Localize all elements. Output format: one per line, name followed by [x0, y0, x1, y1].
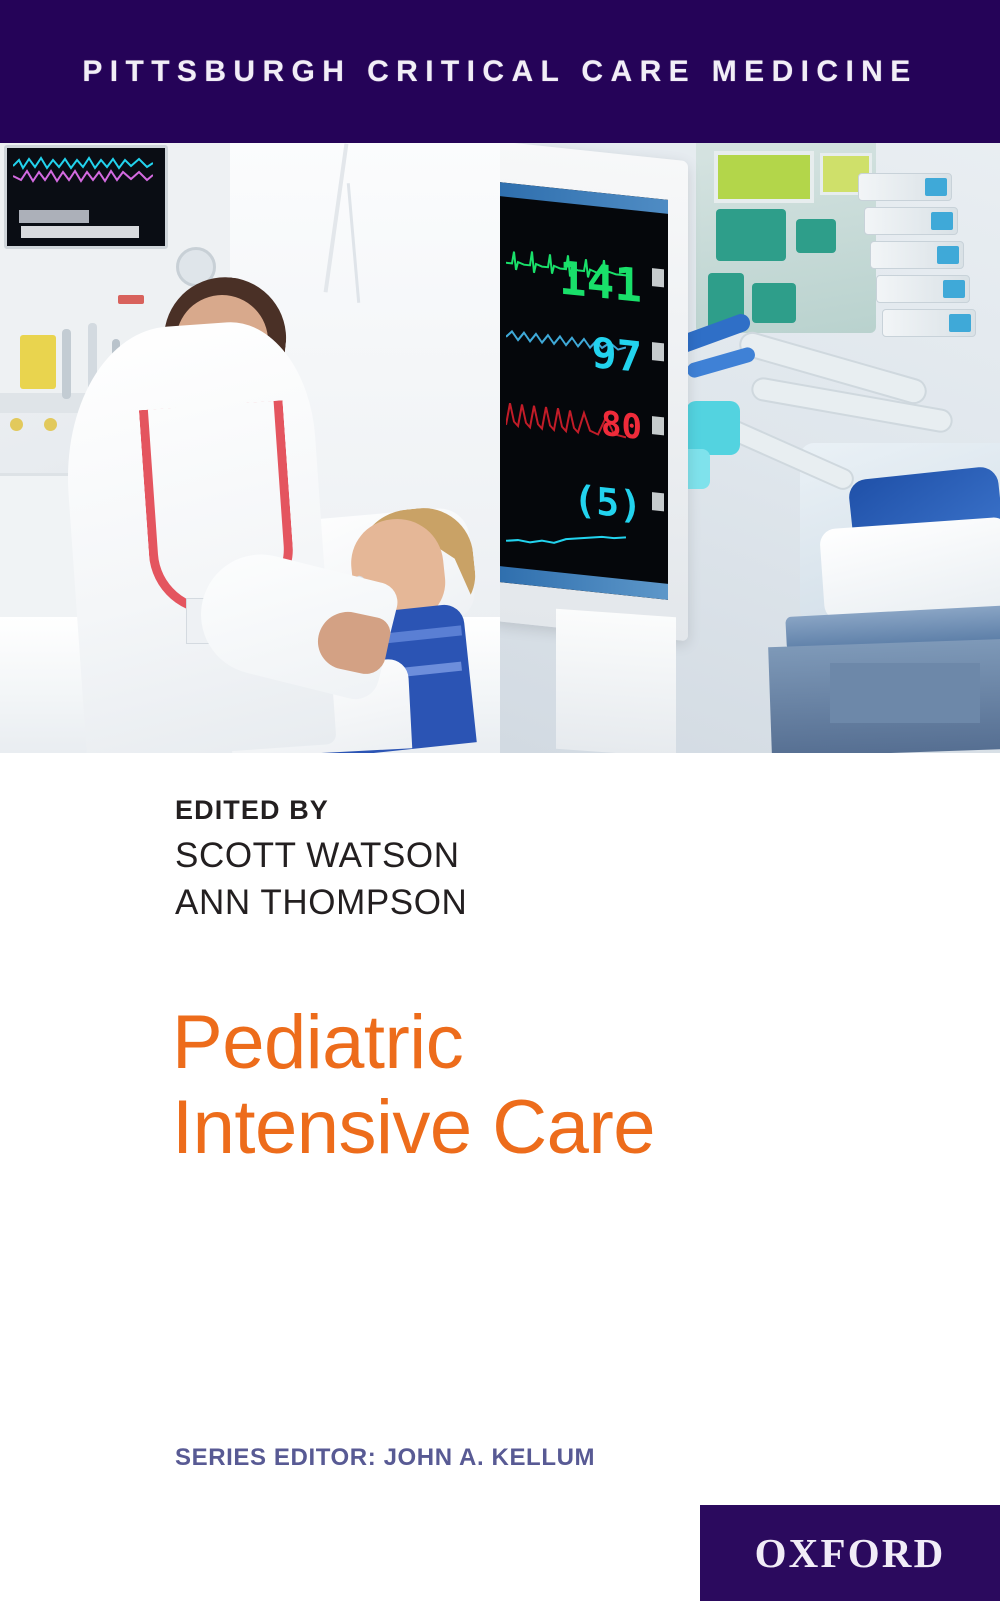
photo-left-scene — [0, 143, 500, 753]
book-title-line-2: Intensive Care — [172, 1085, 655, 1170]
vital-blood-pressure: 80 — [601, 407, 642, 445]
syringe-pump — [876, 275, 970, 303]
bed-control-panel — [830, 663, 980, 723]
syringe-plunger — [949, 314, 971, 332]
red-indicator-strip — [118, 295, 144, 304]
publisher-logo-block: OXFORD — [700, 1505, 1000, 1601]
editor-name-1: SCOTT WATSON — [175, 836, 460, 876]
monitor-label-tag — [652, 492, 664, 511]
monitor-readout-block — [19, 210, 89, 223]
syringe-pump-rack — [858, 173, 992, 353]
syringe-plunger — [925, 178, 947, 196]
bedside-waveform-monitor-icon — [4, 145, 168, 249]
vital-heart-rate: 141 — [559, 254, 642, 309]
ventilator-green-module — [796, 219, 836, 253]
syringe-pump — [882, 309, 976, 337]
syringe-pump — [870, 241, 964, 269]
book-title: Pediatric Intensive Care — [172, 1000, 655, 1170]
patient-white-sheet — [819, 516, 1000, 621]
monitor-label-tag — [652, 416, 664, 435]
syringe-pump — [864, 207, 958, 235]
blue-connector-2 — [685, 346, 756, 380]
monitor-label-tag — [652, 342, 664, 361]
wall-tube — [62, 329, 71, 399]
cover-photograph: 141 97 80 (5) — [0, 143, 1000, 753]
knob — [44, 418, 57, 431]
syringe-plunger — [943, 280, 965, 298]
vitals-monitor-screen: 141 97 80 (5) — [500, 182, 668, 600]
monitor-label-tag — [652, 268, 664, 287]
vital-cvp: (5) — [573, 480, 642, 525]
edited-by-label: EDITED BY — [175, 795, 329, 826]
humidifier-chamber — [686, 401, 740, 455]
series-banner-title: PITTSBURGH CRITICAL CARE MEDICINE — [82, 55, 917, 89]
syringe-pump — [858, 173, 952, 201]
yellow-supply-box — [20, 335, 56, 389]
photo-right-scene: 141 97 80 (5) — [500, 143, 1000, 753]
knob — [10, 418, 23, 431]
series-banner: PITTSBURGH CRITICAL CARE MEDICINE — [0, 0, 1000, 143]
monitor-waveform-magenta — [13, 166, 153, 184]
book-cover: PITTSBURGH CRITICAL CARE MEDICINE — [0, 0, 1000, 1601]
editor-name-2: ANN THOMPSON — [175, 883, 467, 923]
vitals-monitor-stand — [556, 609, 676, 753]
syringe-plunger — [931, 212, 953, 230]
ventilator-green-module — [752, 283, 796, 323]
ventilator-green-module — [716, 209, 786, 261]
book-title-line-1: Pediatric — [172, 1000, 655, 1085]
ventilator-display — [714, 151, 814, 203]
vital-spo2: 97 — [591, 332, 642, 379]
monitor-readout-bar — [21, 226, 139, 238]
series-editor-credit: SERIES EDITOR: JOHN A. KELLUM — [175, 1444, 595, 1472]
publisher-name: OXFORD — [755, 1529, 946, 1577]
syringe-plunger — [937, 246, 959, 264]
